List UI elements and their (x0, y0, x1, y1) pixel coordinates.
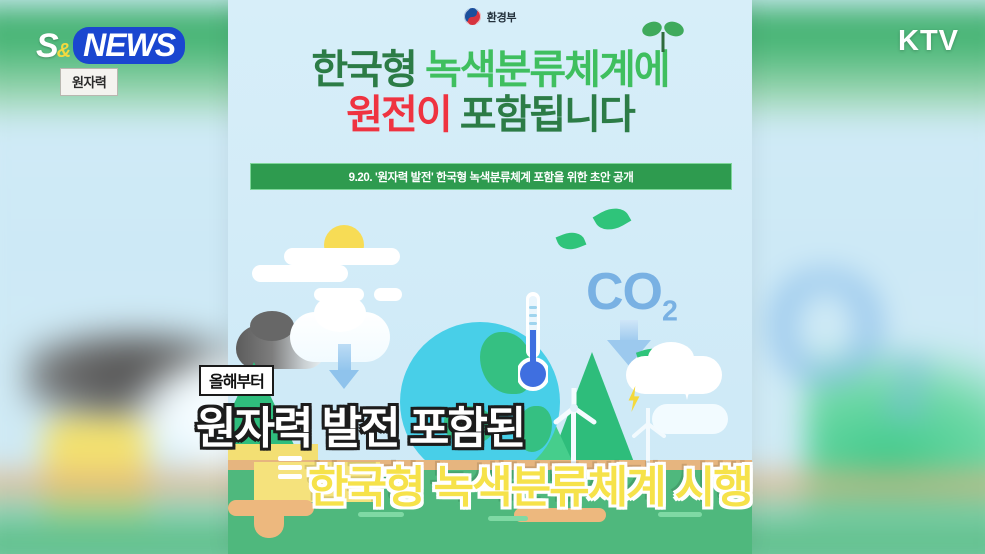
program-logo: S & NEWS (36, 27, 185, 64)
cloud-icon (626, 356, 722, 394)
poster-subtitle-bar: 9.20. '원자력 발전' 한국형 녹색분류체계 포함을 위한 초안 공개 (250, 163, 732, 190)
headline-line-2: 원전이 포함됩니다 (228, 93, 752, 138)
government-logo-row: 환경부 (228, 8, 752, 25)
co2-text: CO2 (586, 262, 677, 328)
caption-badge-label: 올해부터 (209, 374, 264, 391)
cloud-icon (365, 248, 393, 261)
thermometer-icon (518, 290, 548, 394)
headline-line-1: 한국형 녹색분류체계에 (228, 48, 752, 93)
headline-text-nuclear: 원전이 (346, 93, 450, 137)
grass-shape (488, 516, 528, 521)
background-o2-main: O (764, 238, 883, 416)
logo-ampersand: & (57, 41, 71, 61)
path-shape (228, 500, 314, 516)
headline-text-included: 포함됩니다 (460, 93, 634, 137)
caption-badge: 올해부터 (199, 365, 274, 396)
background-o2-sub: 2 (883, 337, 927, 435)
poster-subtitle-text: 9.20. '원자력 발전' 한국형 녹색분류체계 포함을 위한 초안 공개 (349, 169, 634, 185)
caption-line-1: 원자력 발전 포함된 (196, 392, 524, 456)
cloud-icon (252, 265, 348, 282)
caption-line-2: 한국형 녹색분류체계 시행 (308, 451, 752, 515)
down-arrow-icon (338, 344, 351, 372)
logo-letter-s: S (36, 29, 59, 63)
caption-bar (278, 456, 302, 461)
logo-word-news: NEWS (83, 27, 175, 63)
background-o2-text: O2 (764, 236, 928, 436)
caption-decoration-bars (278, 456, 302, 483)
topic-badge-label: 원자력 (72, 75, 106, 90)
headline-text-korean-type: 한국형 (311, 48, 415, 92)
headline-text-green-taxonomy: 녹색분류체계에 (425, 48, 669, 92)
poster-headline: 한국형 녹색분류체계에 원전이 포함됩니다 (228, 48, 752, 138)
logo-news-pill: NEWS (73, 27, 185, 64)
taegeuk-icon (464, 8, 481, 25)
broadcast-frame: O2 (0, 0, 985, 554)
ministry-label: 환경부 (487, 9, 516, 25)
channel-watermark: KTV (898, 25, 959, 58)
topic-badge: 원자력 (60, 68, 118, 96)
cloud-icon (374, 288, 402, 301)
caption-bar (278, 474, 302, 479)
caption-bar (278, 465, 302, 470)
down-arrow-icon (329, 370, 359, 389)
co2-subscript: 2 (662, 295, 677, 327)
co2-main: CO (586, 263, 662, 321)
